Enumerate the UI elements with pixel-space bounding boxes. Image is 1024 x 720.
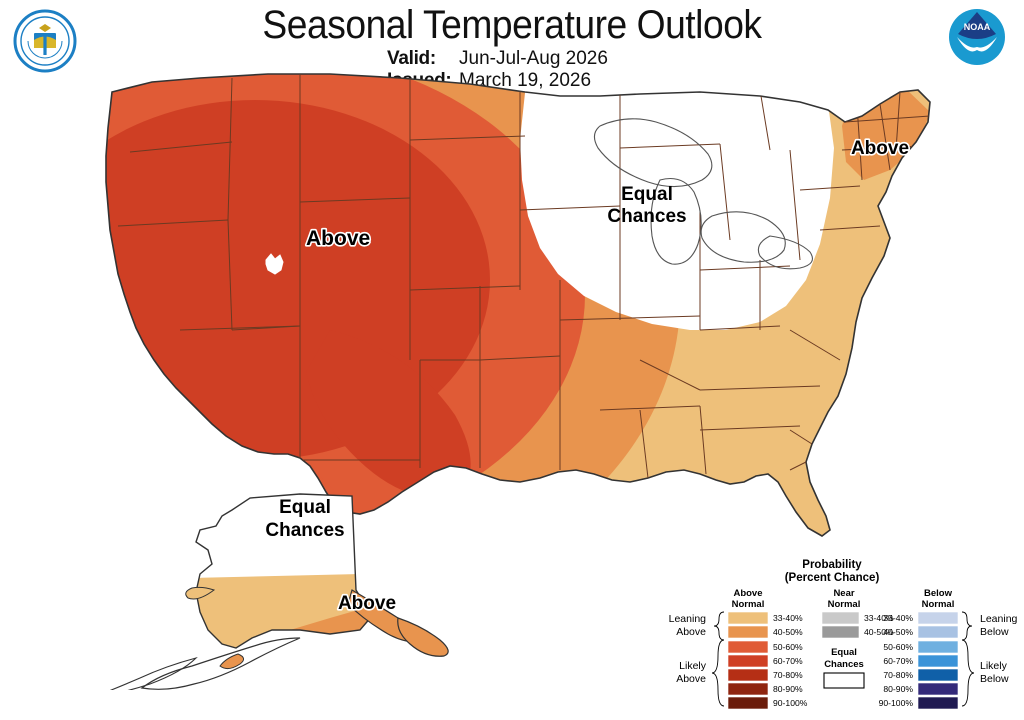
legend-label-below-80-90: 80-90% (883, 684, 913, 694)
legend: Probability (Percent Chance) Above Norma… (646, 556, 1018, 716)
legend-label-above-60-70: 60-70% (773, 656, 803, 666)
map-label-alaska-chances: Chances (265, 520, 344, 541)
legend-swatch-above-80-90[interactable] (728, 683, 768, 695)
legend-below-head-1: Below (924, 588, 953, 599)
legend-brace-leaning-below (962, 612, 972, 640)
legend-swatch-below-60-70[interactable] (918, 655, 958, 667)
legend-swatch-above-90-100[interactable] (728, 697, 768, 709)
legend-side-leaning-below-2: Below (980, 626, 1009, 638)
legend-swatch-near-33-40[interactable] (822, 612, 859, 624)
legend-brace-leaning-above (714, 612, 724, 640)
legend-label-above-40-50: 40-50% (773, 627, 803, 637)
legend-side-leaning-below-1: Leaning (980, 613, 1018, 625)
legend-equal-chances-line1: Equal (831, 647, 857, 658)
outlook-map-page: NOAA Seasonal Temperature Outlook Valid:… (0, 0, 1024, 720)
legend-swatch-below-50-60[interactable] (918, 641, 958, 653)
legend-above-head-1: Above (733, 588, 762, 599)
legend-title-line2: (Percent Chance) (785, 572, 880, 584)
legend-brace-likely-below (962, 640, 974, 706)
legend-swatch-above-33-40[interactable] (728, 612, 768, 624)
legend-label-below-40-50: 40-50% (883, 627, 913, 637)
legend-below-head-2: Normal (922, 599, 955, 610)
legend-swatch-above-60-70[interactable] (728, 655, 768, 667)
map-label-alaska-above: Above (338, 593, 396, 614)
legend-label-above-33-40: 33-40% (773, 613, 803, 623)
legend-swatch-equal-chances[interactable] (824, 673, 864, 688)
legend-swatch-below-40-50[interactable] (918, 626, 958, 638)
legend-column-below-normal: Below Normal 33-40% 40-50% 50-60% 60-70%… (879, 588, 1018, 709)
legend-label-above-50-60: 50-60% (773, 642, 803, 652)
legend-swatch-above-50-60[interactable] (728, 641, 768, 653)
map-label-midwest-equal: Equal (621, 184, 673, 205)
legend-brace-likely-above (712, 640, 724, 706)
map-label-west-above: Above (306, 227, 370, 250)
legend-label-below-50-60: 50-60% (883, 642, 913, 652)
legend-swatch-below-33-40[interactable] (918, 612, 958, 624)
legend-swatch-above-40-50[interactable] (728, 626, 768, 638)
map-label-northeast-above: Above (851, 138, 909, 159)
legend-label-below-70-80: 70-80% (883, 670, 913, 680)
legend-side-leaning-above-1: Leaning (669, 613, 707, 625)
legend-label-below-33-40: 33-40% (883, 613, 913, 623)
legend-side-leaning-above-2: Above (676, 626, 706, 638)
legend-label-above-70-80: 70-80% (773, 670, 803, 680)
legend-column-above-normal: Above Normal 33-40% 40-50% 50-60% 60-70%… (669, 588, 808, 709)
legend-label-below-60-70: 60-70% (883, 656, 913, 666)
legend-swatch-below-80-90[interactable] (918, 683, 958, 695)
legend-near-head-1: Near (833, 588, 854, 599)
legend-equal-chances-line2: Chances (824, 659, 864, 670)
legend-above-head-2: Normal (732, 599, 765, 610)
legend-title-line1: Probability (802, 559, 862, 571)
map-label-alaska-equal: Equal (279, 497, 331, 518)
legend-side-likely-below-1: Likely (980, 660, 1008, 672)
legend-swatch-near-40-50[interactable] (822, 626, 859, 638)
legend-label-above-90-100: 90-100% (773, 698, 808, 708)
legend-side-likely-below-2: Below (980, 673, 1009, 685)
legend-label-above-80-90: 80-90% (773, 684, 803, 694)
legend-label-below-90-100: 90-100% (879, 698, 914, 708)
legend-swatch-above-70-80[interactable] (728, 669, 768, 681)
legend-near-head-2: Normal (828, 599, 861, 610)
map-label-midwest-chances: Chances (607, 206, 686, 227)
legend-swatch-below-70-80[interactable] (918, 669, 958, 681)
legend-side-likely-above-2: Above (676, 673, 706, 685)
legend-swatch-below-90-100[interactable] (918, 697, 958, 709)
legend-side-likely-above-1: Likely (679, 660, 707, 672)
